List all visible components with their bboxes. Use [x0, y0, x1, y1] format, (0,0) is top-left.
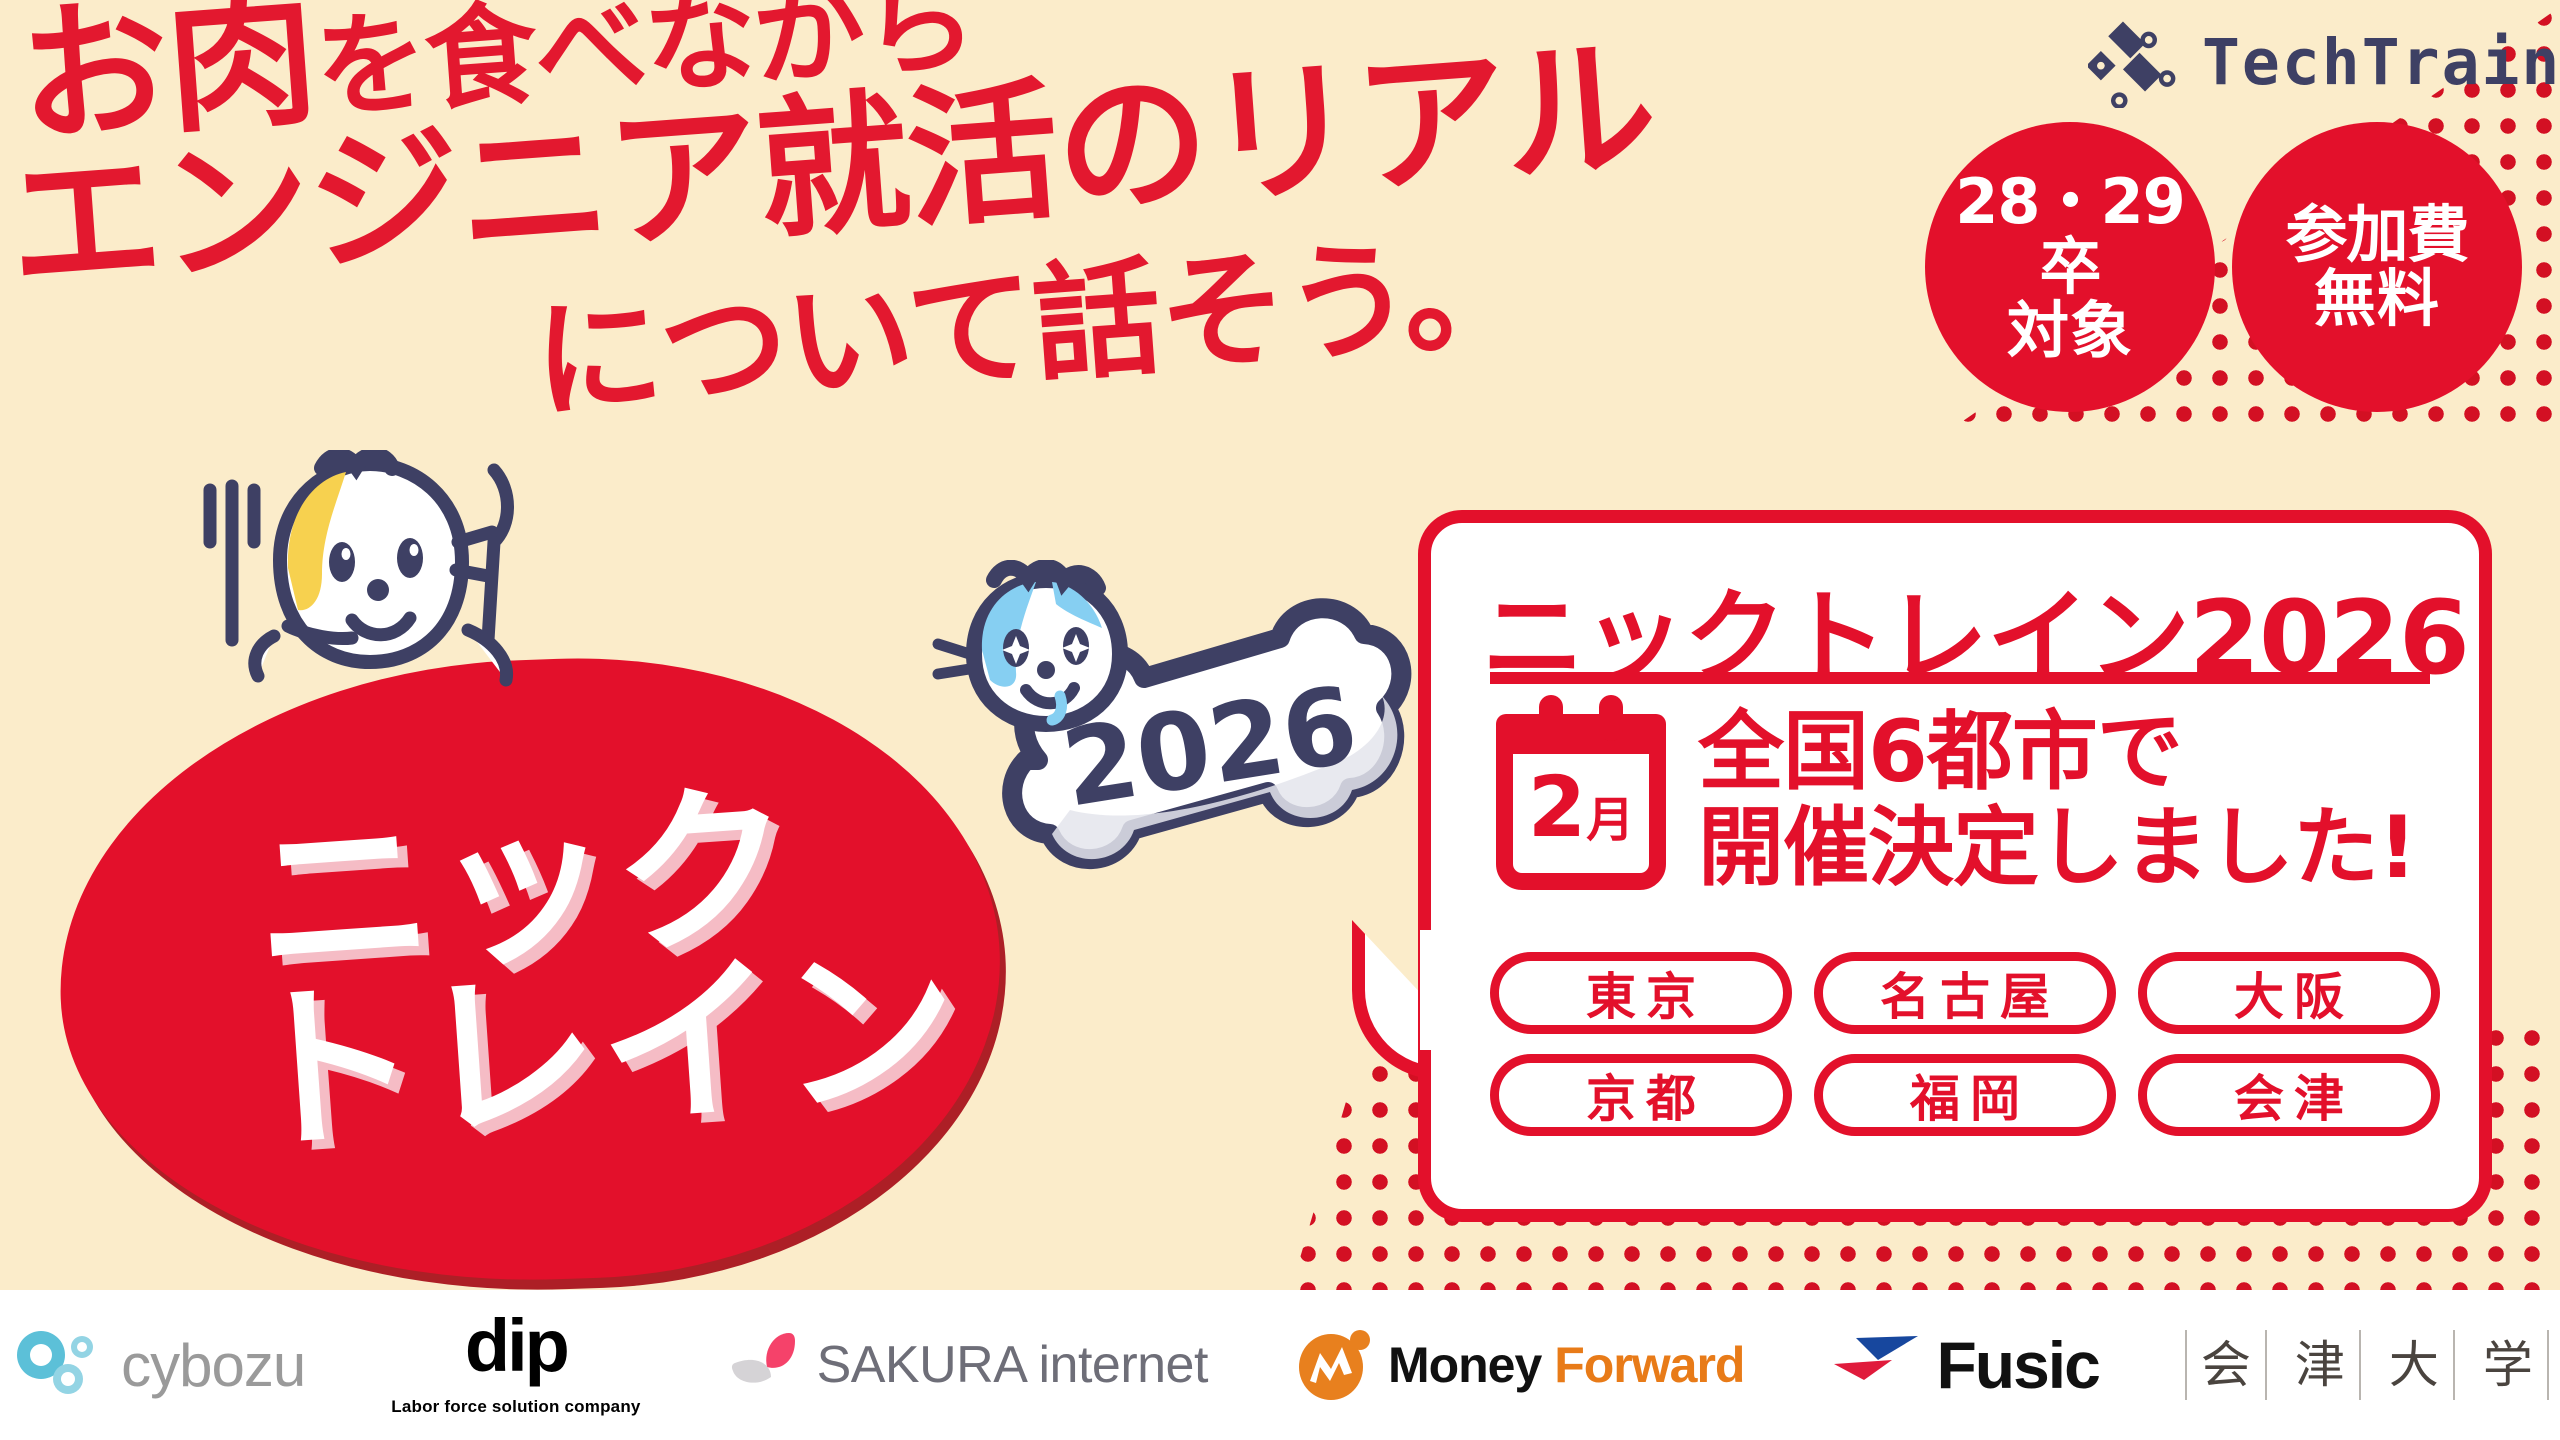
calendar-month-unit: 月 — [1586, 792, 1634, 848]
fee-badge-line-2: 無料 — [2314, 267, 2440, 331]
calendar-icon: 2月 — [1496, 714, 1666, 890]
money-forward-icon — [1294, 1323, 1374, 1408]
sponsor-dip[interactable]: dip Labor force solution company — [391, 1313, 640, 1418]
sponsor-cybozu[interactable]: cybozu — [11, 1325, 305, 1406]
sponsor-fusic[interactable]: Fusic — [1830, 1327, 2098, 1403]
graduation-year-badge-line-1: 28・29卒 — [1925, 170, 2215, 299]
fee-badge: 参加費 無料 — [2232, 122, 2522, 412]
money-forward-word-b: Forward — [1554, 1337, 1744, 1393]
city-pill-aizu[interactable]: 会津 — [2138, 1054, 2440, 1136]
sponsor-money-forward[interactable]: Money Forward — [1294, 1323, 1745, 1408]
event-card-title-underline — [1490, 672, 2430, 684]
money-forward-wordmark: Money Forward — [1388, 1336, 1745, 1394]
fusic-arrow-icon — [1830, 1330, 1922, 1401]
speech-bubble-tail-joint — [1420, 930, 1446, 1050]
event-announcement: 全国6都市で 開催決定しました! — [1698, 700, 2416, 897]
sponsor-bar: cybozu dip Labor force solution company … — [0, 1290, 2560, 1440]
event-announcement-line-1: 全国6都市で — [1698, 704, 2416, 800]
graduation-year-badge: 28・29卒 対象 — [1925, 122, 2215, 412]
fee-badge-line-1: 参加費 — [2285, 203, 2468, 267]
techtrain-diamond-mark-icon — [2088, 16, 2180, 108]
calendar-icon-header — [1496, 714, 1666, 754]
techtrain-wordmark: TechTrain — [2202, 31, 2560, 94]
cybozu-wordmark: cybozu — [121, 1331, 305, 1400]
sakura-wordmark: SAKURA internet — [817, 1335, 1208, 1395]
event-date-row: 2月 全国6都市で 開催決定しました! — [1496, 700, 2416, 897]
aizu-char-1: 会 — [2187, 1330, 2267, 1401]
poster-stage: TechTrain お肉を食べながら エンジニア就活のリアル について話そう。 … — [0, 0, 2560, 1440]
fusic-wordmark: Fusic — [1936, 1327, 2098, 1403]
techtrain-logo[interactable]: TechTrain — [2088, 16, 2560, 108]
headline-line-1-sub: を食べながら — [311, 0, 979, 135]
event-announcement-line-2: 開催決定しました! — [1698, 800, 2416, 896]
city-pill-fukuoka[interactable]: 福岡 — [1814, 1054, 2116, 1136]
calendar-icon-month: 2月 — [1513, 765, 1649, 849]
sponsor-university-of-aizu[interactable]: 会 津 大 学 — [2185, 1330, 2549, 1401]
city-pill-nagoya[interactable]: 名古屋 — [1814, 952, 2116, 1034]
meat-stamp-line-2: トレイン — [235, 943, 965, 1157]
sponsor-sakura-internet[interactable]: SAKURA internet — [727, 1325, 1208, 1406]
graduation-year-badge-line-2: 対象 — [2007, 299, 2133, 363]
hero-section: TechTrain お肉を食べながら エンジニア就活のリアル について話そう。 … — [0, 0, 2560, 1290]
headline-line-2: エンジニア就活のリアル — [4, 31, 1659, 303]
headline-line-1: お肉を食べながら — [14, 0, 978, 154]
dip-tagline: Labor force solution company — [391, 1397, 640, 1417]
dip-wordmark: dip — [465, 1313, 567, 1380]
calendar-month-number: 2 — [1528, 758, 1586, 856]
city-pill-list: 東京 名古屋 大阪 京都 福岡 会津 — [1490, 952, 2450, 1136]
city-pill-osaka[interactable]: 大阪 — [2138, 952, 2440, 1034]
sakura-petal-icon — [727, 1325, 803, 1406]
cybozu-circles-icon — [11, 1325, 107, 1406]
headline-block: お肉を食べながら エンジニア就活のリアル について話そう。 — [0, 0, 1660, 420]
aizu-char-2: 津 — [2281, 1330, 2361, 1401]
money-forward-word-a: Money — [1388, 1337, 1541, 1393]
nick-mascot-with-cutlery — [170, 450, 570, 780]
headline-line-3: について話そう。 — [530, 227, 1533, 428]
city-pill-kyoto[interactable]: 京都 — [1490, 1054, 1792, 1136]
aizu-char-3: 大 — [2375, 1330, 2455, 1401]
train-mascot-on-bone: 2026 — [920, 560, 1420, 960]
aizu-char-4: 学 — [2469, 1330, 2549, 1401]
city-pill-tokyo[interactable]: 東京 — [1490, 952, 1792, 1034]
headline-line-1-main: お肉 — [13, 0, 321, 166]
